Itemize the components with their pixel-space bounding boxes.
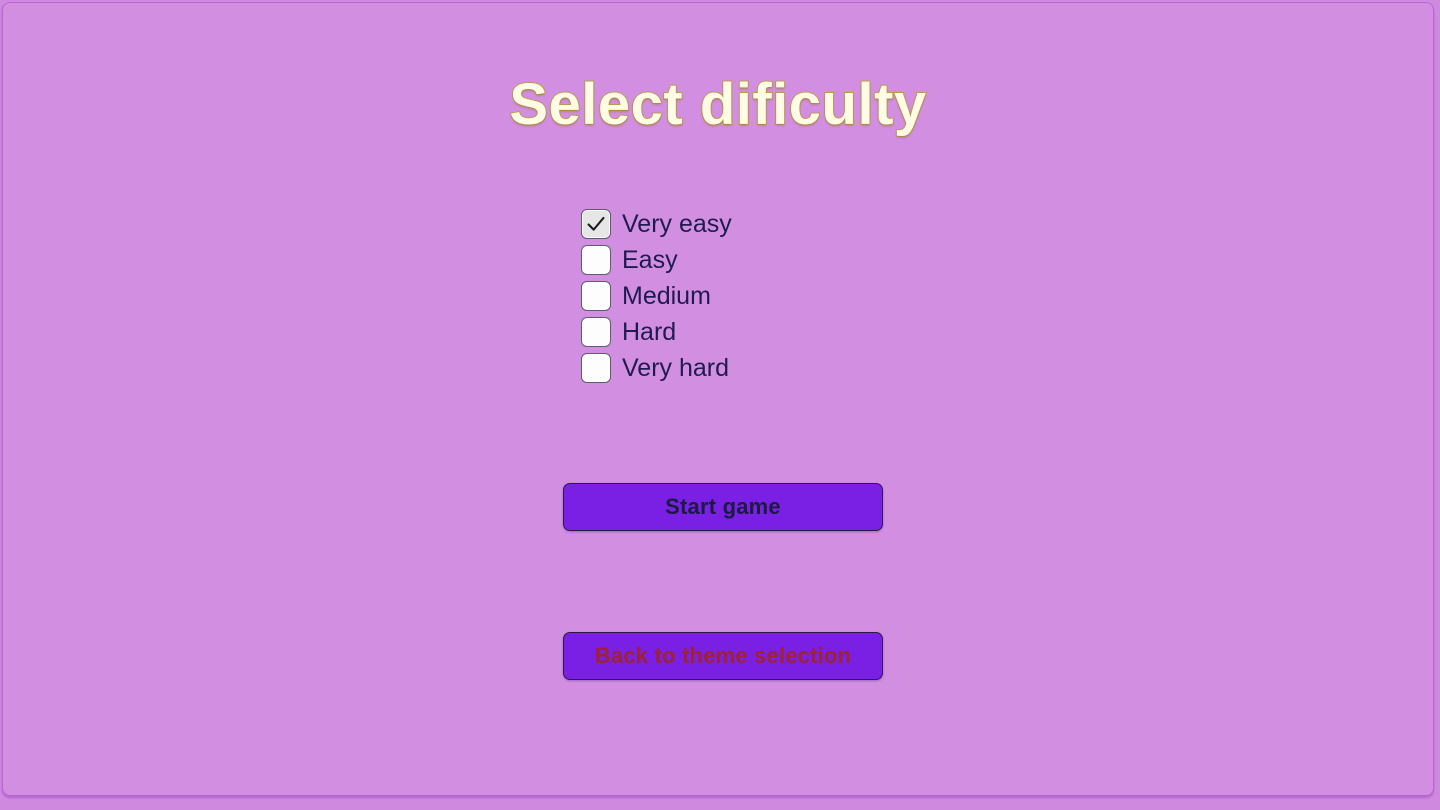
difficulty-option-very-hard[interactable]: Very hard: [581, 350, 729, 386]
difficulty-option-hard[interactable]: Hard: [581, 314, 676, 350]
difficulty-label-very-easy: Very easy: [622, 212, 732, 237]
checkbox-medium[interactable]: [581, 281, 611, 311]
difficulty-option-medium[interactable]: Medium: [581, 278, 711, 314]
difficulty-label-medium: Medium: [622, 284, 711, 309]
back-to-theme-selection-button[interactable]: Back to theme selection: [563, 632, 883, 680]
checkbox-easy[interactable]: [581, 245, 611, 275]
difficulty-label-easy: Easy: [622, 248, 678, 273]
checkbox-very-easy[interactable]: [581, 209, 611, 239]
check-icon: [582, 210, 610, 238]
difficulty-label-very-hard: Very hard: [622, 356, 729, 381]
difficulty-option-very-easy[interactable]: Very easy: [581, 206, 732, 242]
checkbox-hard[interactable]: [581, 317, 611, 347]
difficulty-options-list: Very easy Easy Medium: [3, 206, 1433, 386]
start-game-button[interactable]: Start game: [563, 483, 883, 531]
page-title: Select dificulty: [3, 72, 1433, 139]
difficulty-option-easy[interactable]: Easy: [581, 242, 678, 278]
difficulty-label-hard: Hard: [622, 320, 676, 345]
app-frame: Select dificulty Very easy Easy: [2, 2, 1434, 796]
checkbox-very-hard[interactable]: [581, 353, 611, 383]
